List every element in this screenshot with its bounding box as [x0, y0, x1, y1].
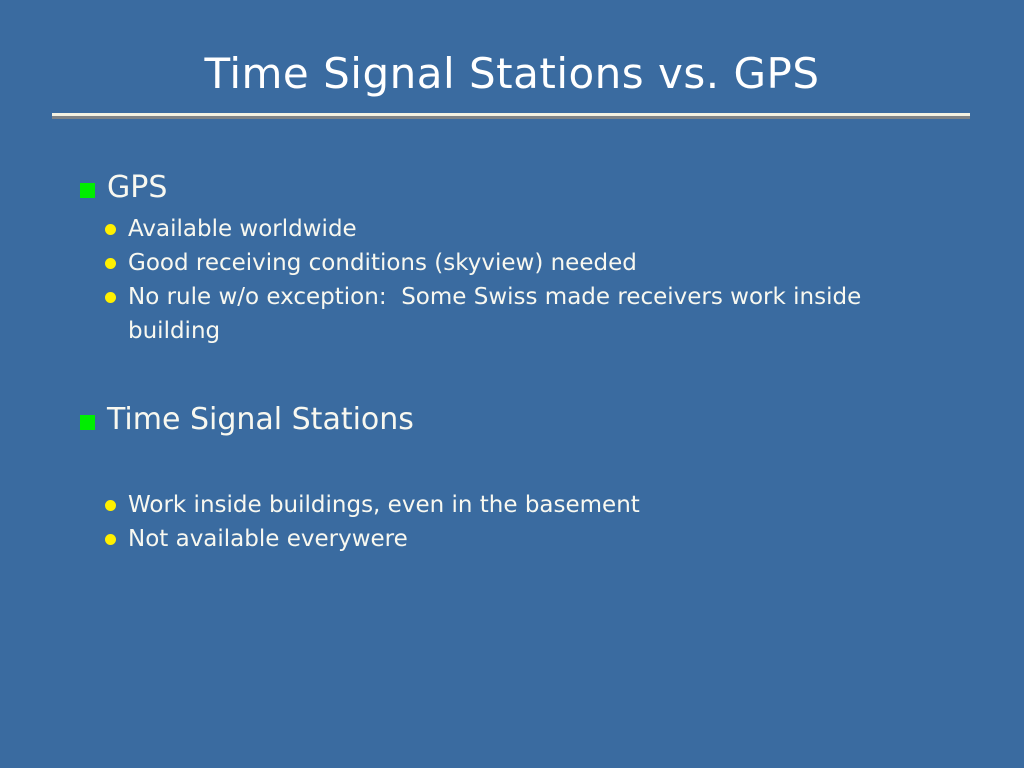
dot-bullet-icon [105, 292, 116, 303]
title-divider-shadow [52, 116, 970, 119]
section-spacer [0, 348, 1024, 400]
list-item-label: Work inside buildings, even in the basem… [128, 488, 900, 522]
section-heading-time-signal-stations: Time Signal Stations [0, 400, 1024, 440]
list-item-label: Not available everywere [128, 522, 900, 556]
list-item: Work inside buildings, even in the basem… [0, 488, 1024, 522]
dot-bullet-icon [105, 534, 116, 545]
square-bullet-icon [80, 183, 95, 198]
slide: Time Signal Stations vs. GPS GPS Availab… [0, 0, 1024, 768]
dot-bullet-icon [105, 258, 116, 269]
section-heading-label: Time Signal Stations [107, 402, 414, 437]
slide-body: GPS Available worldwide Good receiving c… [0, 168, 1024, 556]
list-item-label: Available worldwide [128, 212, 900, 246]
section-heading-gps: GPS [0, 168, 1024, 208]
page-title: Time Signal Stations vs. GPS [0, 48, 1024, 100]
list-item: No rule w/o exception: Some Swiss made r… [0, 280, 1024, 348]
dot-bullet-icon [105, 224, 116, 235]
list-item-label: No rule w/o exception: Some Swiss made r… [128, 280, 900, 348]
section-heading-label: GPS [107, 170, 167, 205]
list-item: Good receiving conditions (skyview) need… [0, 246, 1024, 280]
list-item-label: Good receiving conditions (skyview) need… [128, 246, 900, 280]
square-bullet-icon [80, 415, 95, 430]
list-item: Not available everywere [0, 522, 1024, 556]
blank-line-spacer [0, 444, 1024, 488]
list-item: Available worldwide [0, 212, 1024, 246]
dot-bullet-icon [105, 500, 116, 511]
title-block: Time Signal Stations vs. GPS [0, 48, 1024, 100]
